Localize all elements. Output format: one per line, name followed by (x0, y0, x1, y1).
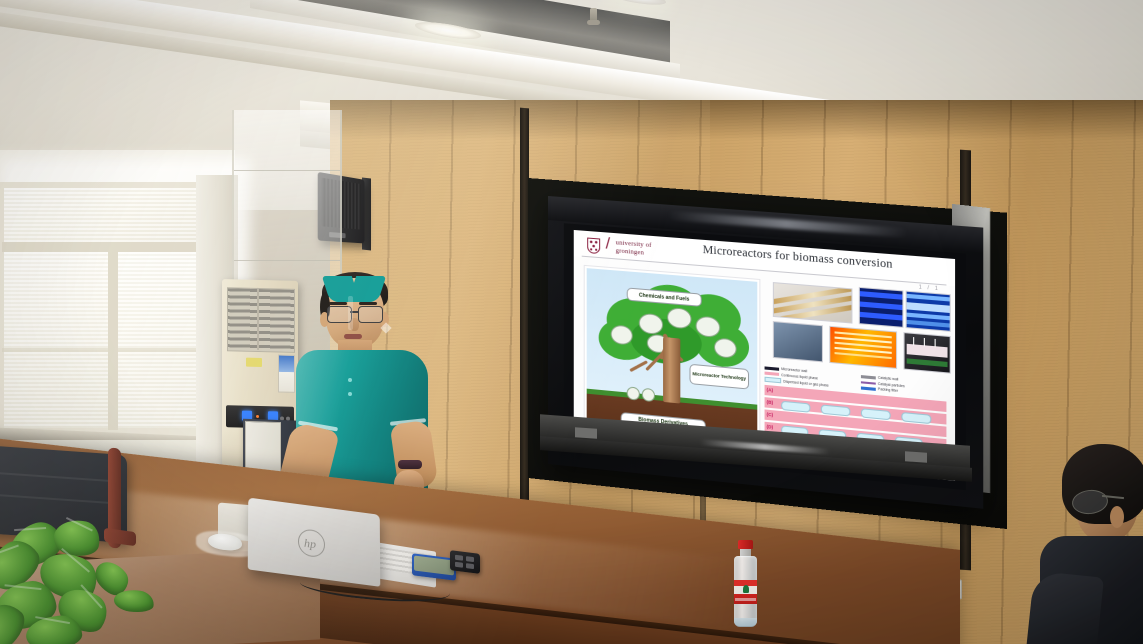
legend-swatch-1 (765, 372, 780, 376)
root-node-1 (627, 386, 640, 400)
ceiling-light-2-icon (608, 0, 666, 8)
legend-swatch-3 (861, 375, 876, 379)
polo-placket (348, 296, 353, 330)
hp-wordmark: hp (304, 536, 316, 553)
regime-label-c: (C) (767, 411, 773, 417)
display-stand-left (575, 427, 597, 439)
display-stand-right (905, 451, 927, 463)
window-mullion-horizontal (2, 242, 228, 252)
legend-swatch-4 (861, 381, 876, 384)
micrograph-a: (A) (773, 282, 853, 324)
polo-button-2 (348, 392, 352, 396)
legend-label-5: Packing filter (878, 387, 898, 393)
window-blind-top[interactable] (4, 188, 226, 244)
ac-vent-louvers (227, 287, 295, 353)
legend-label-2: Dispersed liquid or gas phase (783, 379, 828, 387)
legend-swatch-2 (765, 377, 782, 384)
clicker-button-4[interactable] (466, 563, 474, 569)
ac-sticker (246, 358, 262, 367)
micrograph-b-left: (B) (859, 287, 904, 328)
wristwatch (398, 460, 422, 469)
university-crest-icon (586, 236, 602, 254)
partition-line-1 (234, 170, 340, 171)
attendee-ear (1110, 506, 1124, 528)
bottle-leaf-icon (743, 585, 749, 593)
presentation-clicker[interactable] (450, 550, 480, 574)
phone-screen[interactable] (414, 556, 454, 576)
micrograph-d: (D) (829, 326, 897, 369)
chair-seam-1 (0, 471, 120, 482)
clicker-button-2[interactable] (466, 556, 474, 562)
water-bottle[interactable] (733, 540, 758, 626)
bottle-cap[interactable] (738, 540, 753, 549)
partition-line-2 (234, 260, 340, 261)
bottle-label-text (735, 598, 756, 601)
presenter-mouth (344, 334, 362, 339)
clicker-button-3[interactable] (455, 562, 463, 568)
micrograph-b-right (906, 291, 951, 332)
university-name: university of groningen (616, 239, 652, 257)
presenter-brow-left (329, 302, 347, 305)
potted-plant (0, 520, 216, 644)
regime-label-b: (B) (767, 399, 773, 405)
legend-swatch-0 (765, 366, 780, 370)
clicker-button-1[interactable] (455, 555, 463, 561)
conference-room-photo: / university of groningen Microreactors … (0, 0, 1143, 644)
root-node-2 (642, 388, 655, 402)
window-rail (2, 348, 228, 352)
hp-logo-icon: hp (298, 528, 325, 559)
ac-vent-divider (257, 288, 259, 350)
attendee-shoulder (1026, 571, 1104, 644)
glasses-lens-right (358, 306, 383, 323)
ac-indicator-dot (256, 415, 259, 418)
regime-label-a: (A) (767, 387, 773, 393)
legend-swatch-5 (861, 386, 876, 390)
window-mullion-vertical (108, 250, 118, 430)
tree-trunk (663, 337, 680, 403)
polo-button-1 (348, 378, 352, 382)
logo-divider: / (606, 235, 610, 253)
seated-attendee (1024, 448, 1143, 644)
micrograph-e: (E) (903, 332, 950, 374)
presenter-brow-right (359, 302, 377, 305)
micrograph-c: (C) (773, 321, 823, 362)
bottle-base (734, 618, 757, 627)
attendee-hair (1062, 444, 1143, 524)
chair-seam-2 (0, 493, 120, 504)
bottle-label (734, 580, 757, 604)
sprinkler-head-icon (590, 8, 597, 24)
regime-label-d: (D) (767, 423, 773, 429)
